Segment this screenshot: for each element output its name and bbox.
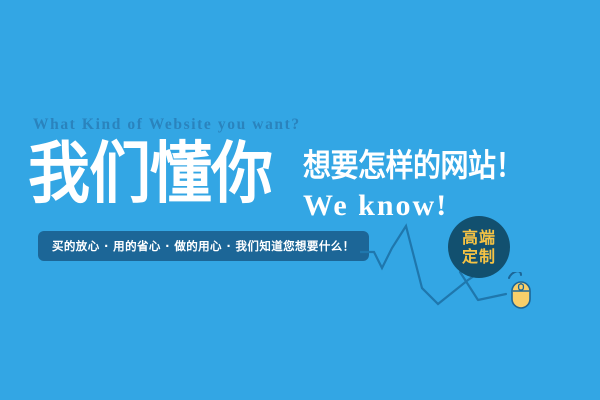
premium-custom-badge[interactable]: 高端 定制 <box>448 216 510 278</box>
badge-line-1: 高端 <box>462 228 496 247</box>
badge-line-2: 定制 <box>462 247 496 266</box>
banner-kicker-text: What Kind of Website you want? <box>33 116 301 134</box>
banner-subheadline-group: 想要怎样的网站！ We know! <box>303 148 523 222</box>
mouse-icon <box>506 272 536 312</box>
banner-subheadline-cn: 想要怎样的网站！ <box>303 148 523 184</box>
banner-headline: 我们懂你 <box>28 138 272 209</box>
promo-banner: What Kind of Website you want? 我们懂你 想要怎样… <box>0 0 600 400</box>
tagline-bar: 买的放心 · 用的省心 · 做的用心 · 我们知道您想要什么！ <box>38 231 369 261</box>
tagline-text: 买的放心 · 用的省心 · 做的用心 · 我们知道您想要什么！ <box>52 238 355 254</box>
